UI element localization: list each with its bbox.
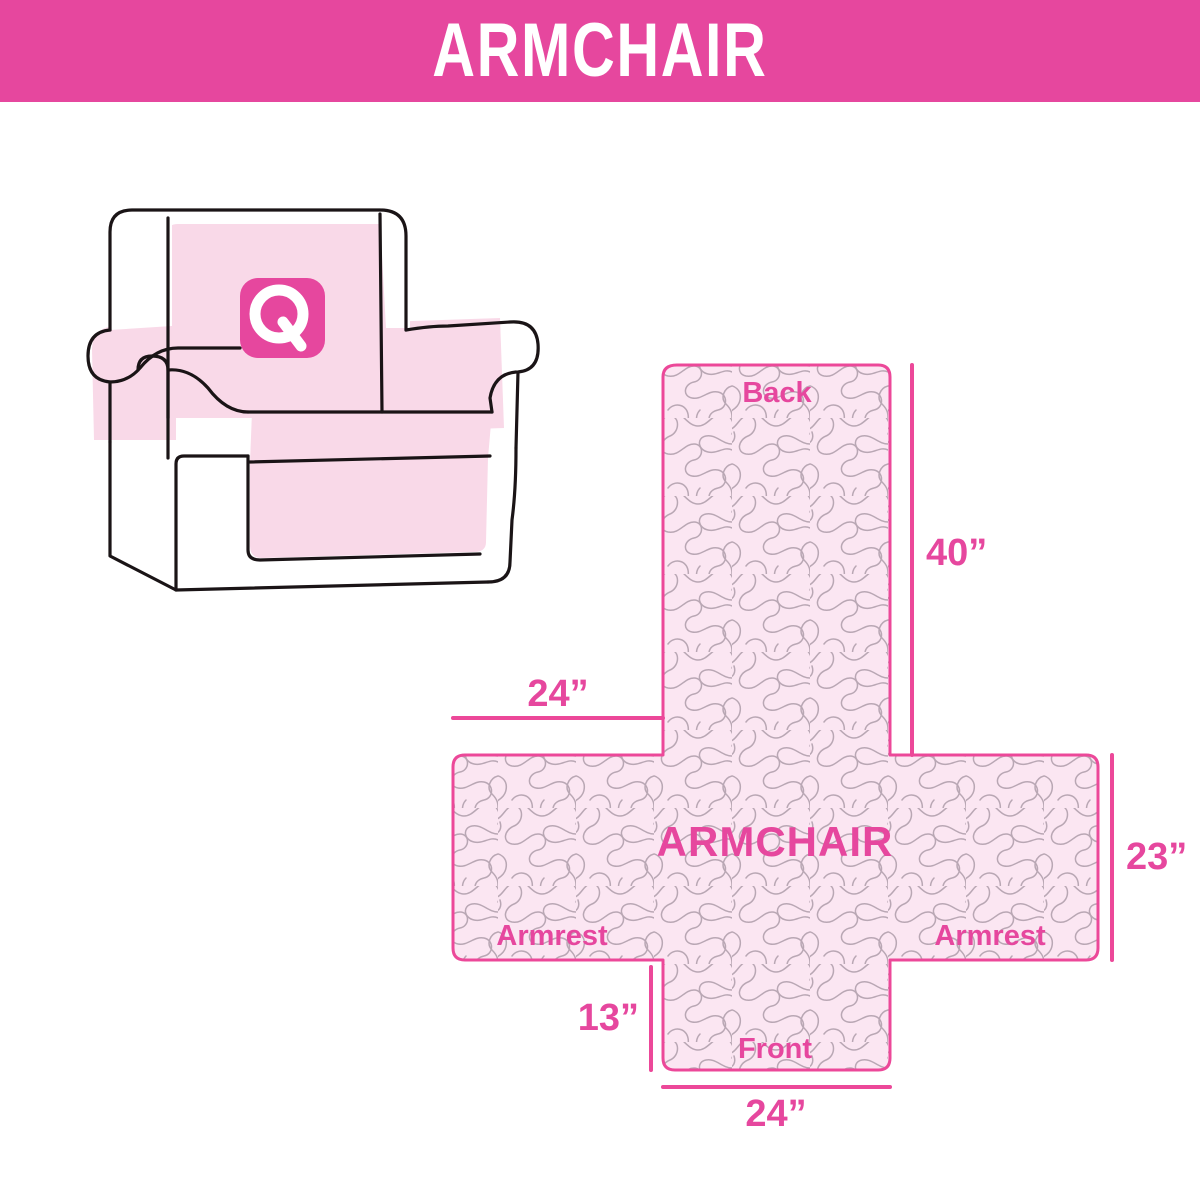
- dimension-armrest-width: 24”: [453, 673, 663, 718]
- dimension-label-front-width: 24”: [745, 1093, 806, 1135]
- panel-label-front: Front: [738, 1033, 812, 1065]
- dimension-label-back-height: 40”: [926, 532, 987, 574]
- dimension-label-armrest-width: 24”: [527, 673, 588, 715]
- dimension-label-front-height: 13”: [578, 997, 639, 1039]
- pattern-center-title: ARMCHAIR: [657, 818, 894, 865]
- q-logo-badge: [240, 278, 325, 358]
- panel-label-back: Back: [742, 377, 812, 409]
- chair-back-left-white: [108, 210, 172, 330]
- dimension-back-height: 40”: [912, 365, 987, 755]
- dimension-front-width: 24”: [663, 1087, 890, 1135]
- page-title: ARMCHAIR: [432, 13, 767, 89]
- dimension-front-height: 13”: [578, 967, 651, 1070]
- cover-pattern-svg: Back Armrest Armrest Front ARMCHAIR 40” …: [420, 340, 1200, 1130]
- dimension-armrest-height: 23”: [1112, 755, 1187, 960]
- dimension-label-armrest-height: 23”: [1126, 836, 1187, 878]
- panel-label-armrest-right: Armrest: [934, 920, 1046, 952]
- header-banner: ARMCHAIR: [0, 0, 1200, 102]
- panel-label-armrest-left: Armrest: [496, 920, 608, 952]
- cover-pattern-diagram: Back Armrest Armrest Front ARMCHAIR 40” …: [420, 340, 1200, 1130]
